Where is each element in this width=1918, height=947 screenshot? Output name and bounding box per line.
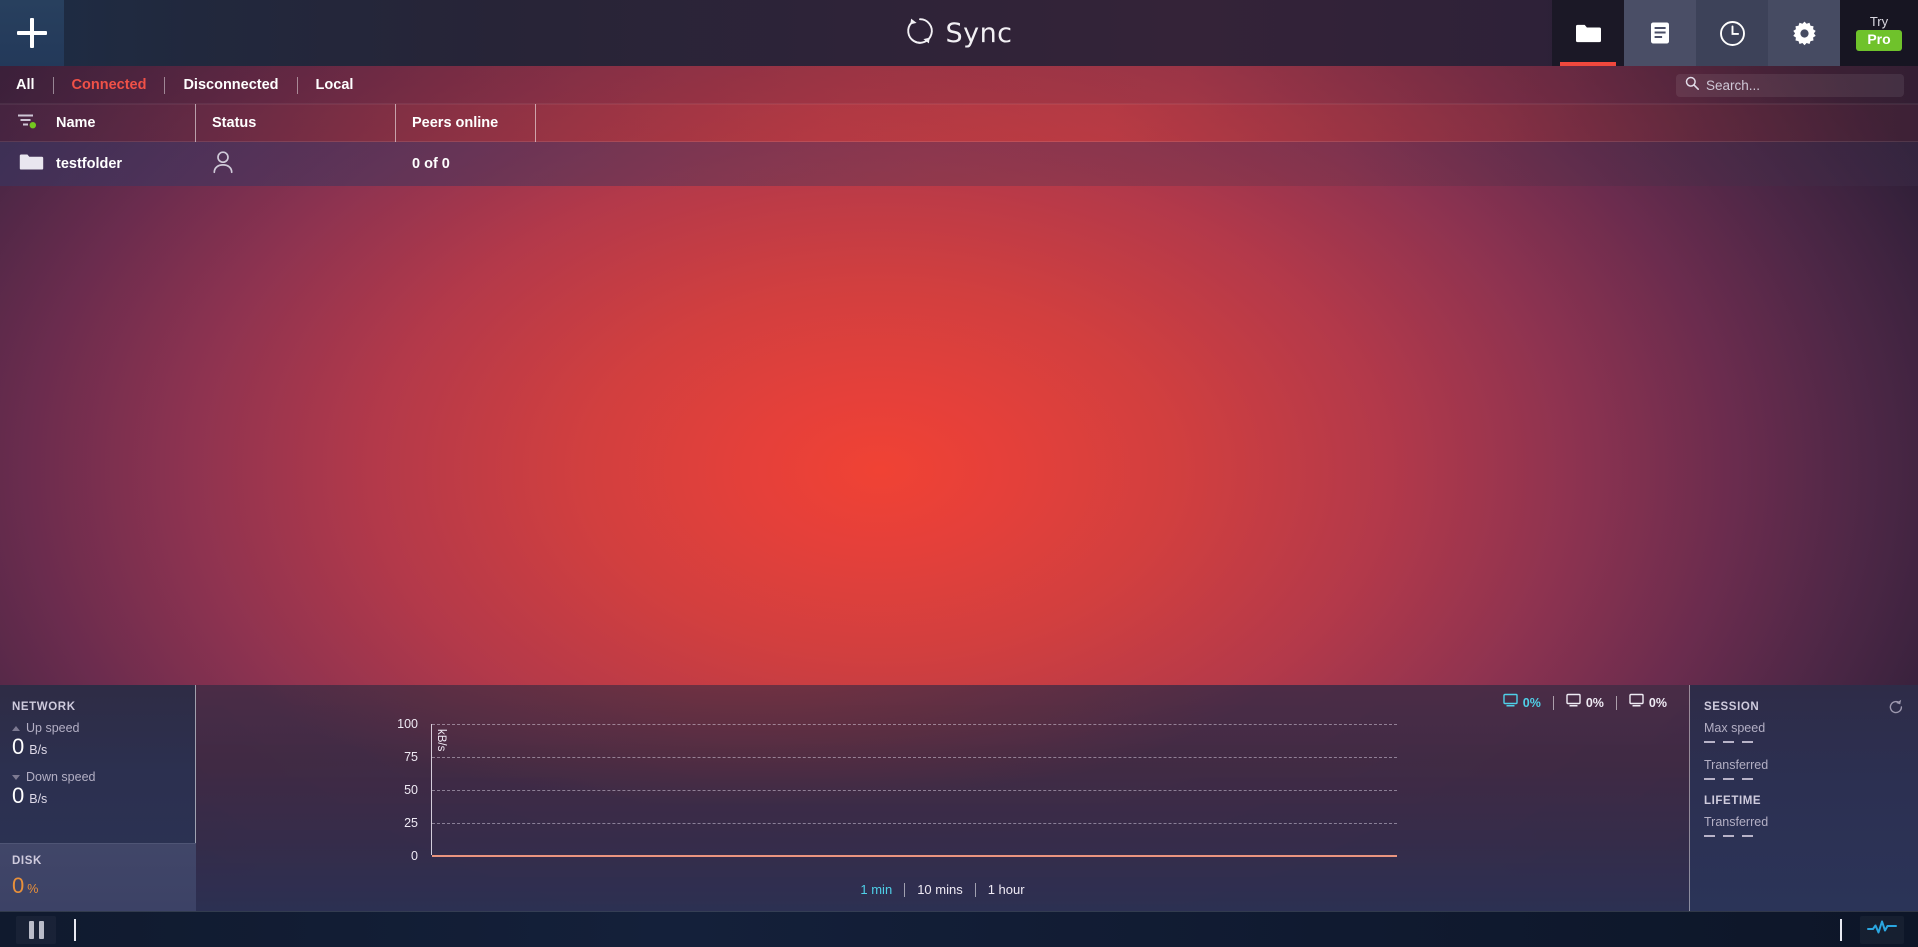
cpu-indicator-1-value: 0% — [1523, 696, 1541, 710]
column-filter-button[interactable] — [0, 104, 56, 142]
monitor-icon — [1503, 693, 1518, 713]
down-speed-value-row: 0 B/s — [12, 785, 195, 807]
chart-ytick-left: 50 — [382, 783, 418, 797]
monitor-icon — [1566, 693, 1581, 713]
lifetime-transferred-value — [1704, 835, 1918, 837]
plus-icon — [17, 18, 47, 48]
tab-history[interactable] — [1696, 0, 1768, 66]
cpu-indicator-1[interactable]: 0% — [1491, 693, 1553, 713]
activity-graph-button[interactable] — [1860, 916, 1904, 944]
disk-unit: % — [27, 882, 38, 896]
try-label: Try — [1870, 15, 1888, 28]
sync-circular-arrows-icon — [905, 16, 935, 51]
chart-ylabel-left: kB/s — [435, 729, 447, 751]
lifetime-section-title: LIFETIME — [1704, 795, 1918, 807]
disk-value: 0 — [12, 875, 24, 897]
tab-folders[interactable] — [1552, 0, 1624, 66]
search-icon — [1685, 76, 1699, 95]
column-label: Name — [56, 115, 96, 131]
chart-gridline — [432, 757, 1397, 758]
disk-value-row: 0 % — [12, 875, 196, 897]
up-speed-label: Up speed — [26, 721, 80, 735]
down-speed-label-row: Down speed — [12, 770, 195, 784]
chart-gridline — [432, 823, 1397, 824]
chart-gridline — [432, 790, 1397, 791]
column-header-status[interactable]: Status — [196, 104, 396, 142]
person-icon — [212, 150, 234, 179]
gear-icon — [1791, 20, 1818, 47]
disk-section-title: DISK — [12, 855, 196, 867]
try-pro-button[interactable]: Try Pro — [1840, 0, 1918, 66]
app-title: Sync — [945, 18, 1012, 49]
pause-icon — [29, 921, 44, 939]
filter-all[interactable]: All — [0, 77, 53, 93]
tab-devices[interactable] — [1624, 0, 1696, 66]
session-section-title: SESSION — [1704, 701, 1918, 713]
chart-ytick-left: 100 — [382, 717, 418, 731]
row-folder-icon-cell — [0, 142, 56, 186]
column-header-spacer — [536, 104, 1918, 142]
time-range-10-mins[interactable]: 10 mins — [905, 882, 975, 897]
clock-icon — [1719, 20, 1746, 47]
filter-local[interactable]: Local — [298, 77, 372, 93]
divider — [1840, 919, 1842, 941]
network-section-title: NETWORK — [12, 701, 195, 713]
down-speed-unit: B/s — [29, 792, 47, 806]
chart-ytick-left: 0 — [382, 849, 418, 863]
sync-app-window: Sync — [0, 0, 1918, 947]
status-bar — [0, 911, 1918, 947]
tab-preferences[interactable] — [1768, 0, 1840, 66]
search-input[interactable] — [1706, 78, 1895, 93]
down-speed-label: Down speed — [26, 770, 96, 784]
column-header-name[interactable]: Name — [56, 104, 196, 142]
up-speed-label-row: Up speed — [12, 721, 195, 735]
cpu-indicator-2-value: 0% — [1586, 696, 1604, 710]
search-box[interactable] — [1676, 74, 1904, 97]
status-bar-right — [1840, 916, 1918, 944]
row-name: testfolder — [56, 142, 196, 186]
filter-disconnected[interactable]: Disconnected — [165, 77, 296, 93]
cpu-indicator-group: 0% 0% — [1491, 693, 1679, 713]
network-panel: NETWORK Up speed 0 B/s Down speed 0 B/s — [0, 685, 196, 911]
row-peers-online: 0 of 0 — [396, 142, 536, 186]
filter-sort-icon — [17, 112, 39, 134]
nav-icon-group: Try Pro — [1552, 0, 1918, 66]
up-speed-value: 0 — [12, 736, 24, 758]
column-header-peers-online[interactable]: Peers online — [396, 104, 536, 142]
monitor-icon — [1629, 693, 1644, 713]
cpu-indicator-3-value: 0% — [1649, 696, 1667, 710]
session-transferred-label: Transferred — [1704, 758, 1918, 772]
filter-bar: All Connected Disconnected Local — [0, 66, 1918, 104]
folder-icon — [19, 152, 44, 177]
up-speed-unit: B/s — [29, 743, 47, 757]
chart-ytick-left: 25 — [382, 816, 418, 830]
table-header: Name Status Peers online — [0, 104, 1918, 142]
folder-icon — [1575, 22, 1601, 44]
pro-badge: Pro — [1856, 30, 1901, 50]
time-range-1-min[interactable]: 1 min — [848, 882, 904, 897]
time-range-selector: 1 min 10 mins 1 hour — [196, 882, 1689, 897]
chart-series-line — [432, 855, 1397, 857]
cpu-indicator-3[interactable]: 0% — [1617, 693, 1679, 713]
bottom-stats-panel: NETWORK Up speed 0 B/s Down speed 0 B/s — [0, 685, 1918, 911]
row-status-cell[interactable] — [196, 142, 396, 186]
pulse-graph-icon — [1867, 918, 1897, 941]
add-folder-button[interactable] — [0, 0, 64, 66]
pause-button[interactable] — [16, 916, 56, 944]
table-row[interactable]: testfolder 0 of 0 — [0, 142, 1918, 186]
bandwidth-chart: 0% 0% — [196, 685, 1690, 911]
cpu-indicator-2[interactable]: 0% — [1554, 693, 1616, 713]
lifetime-transferred-label: Transferred — [1704, 815, 1918, 829]
session-max-speed-label: Max speed — [1704, 721, 1918, 735]
session-panel: SESSION Max speed Transferred LIFETIME T… — [1690, 685, 1918, 911]
disk-section: DISK 0 % — [0, 843, 196, 911]
session-transferred-value — [1704, 778, 1918, 780]
reset-arrow-icon[interactable] — [1888, 699, 1904, 720]
session-max-speed-value — [1704, 741, 1918, 743]
down-speed-value: 0 — [12, 785, 24, 807]
chart-plot-area: kB/s % Load 100 75 50 25 0 100 75 50 25 … — [196, 717, 1689, 865]
arrow-down-icon — [12, 775, 20, 780]
arrow-up-icon — [12, 726, 20, 731]
title-bar: Sync — [0, 0, 1918, 66]
document-lines-icon — [1649, 21, 1671, 45]
chart-gridline — [432, 724, 1397, 725]
column-label: Status — [212, 115, 256, 131]
up-speed-value-row: 0 B/s — [12, 736, 195, 758]
network-section: NETWORK Up speed 0 B/s Down speed 0 B/s — [0, 685, 195, 807]
column-label: Peers online — [412, 115, 498, 131]
filter-connected[interactable]: Connected — [54, 77, 165, 93]
divider — [74, 919, 76, 941]
chart-ytick-left: 75 — [382, 750, 418, 764]
time-range-1-hour[interactable]: 1 hour — [976, 882, 1037, 897]
